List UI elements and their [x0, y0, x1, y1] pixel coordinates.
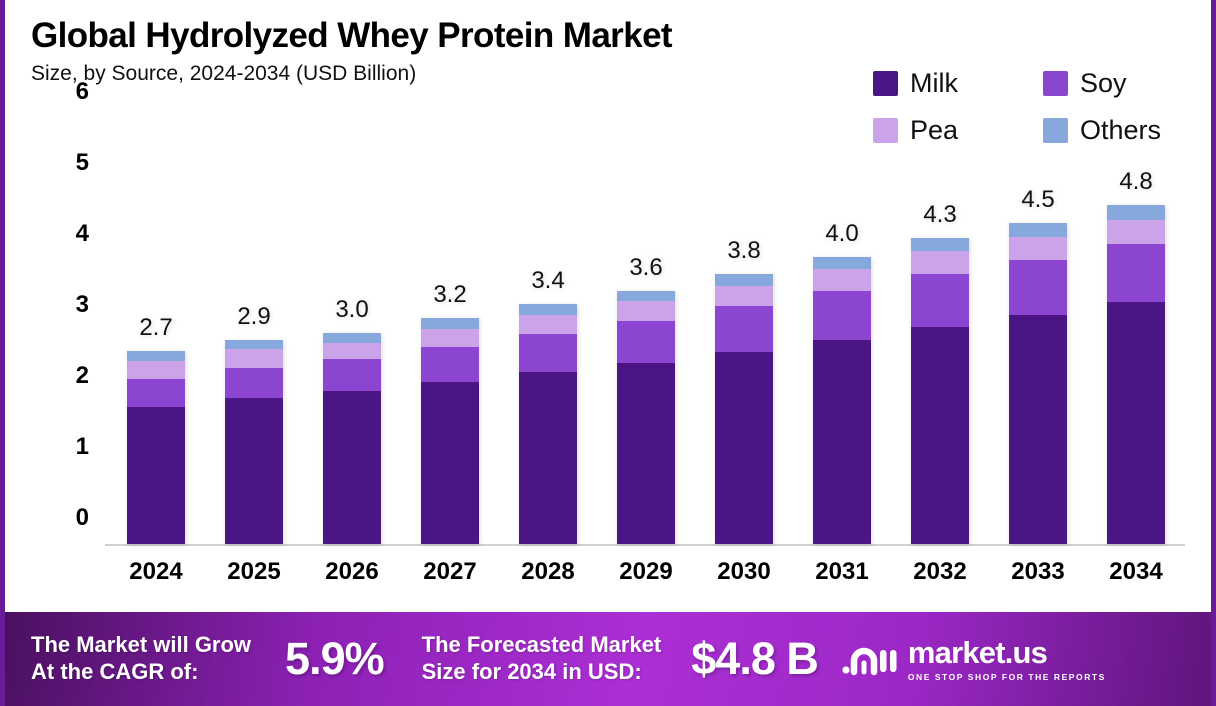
bar-segment-soy[interactable]	[715, 306, 773, 351]
cagr-value: 5.9%	[285, 633, 384, 685]
bar-segment-pea[interactable]	[127, 361, 185, 379]
x-axis-tick-label: 2031	[815, 558, 868, 586]
bar-segment-pea[interactable]	[715, 286, 773, 307]
stacked-bar[interactable]: 3.2	[421, 318, 479, 544]
stacked-bar[interactable]: 3.8	[715, 274, 773, 544]
bar-segment-soy[interactable]	[813, 291, 871, 340]
bar-group-2025[interactable]: 2.92025	[225, 340, 283, 544]
footer-banner: The Market will Grow At the CAGR of: 5.9…	[5, 612, 1216, 706]
stacked-bar[interactable]: 3.0	[323, 333, 381, 544]
forecast-size-value: $4.8 B	[691, 633, 818, 685]
bar-group-2024[interactable]: 2.72024	[127, 351, 185, 544]
bar-value-label: 2.9	[237, 303, 270, 331]
bar-value-label: 4.5	[1021, 186, 1054, 214]
bar-segment-soy[interactable]	[617, 321, 675, 363]
bar-value-label: 3.6	[629, 254, 662, 282]
stacked-bar[interactable]: 4.0	[813, 257, 871, 544]
logo-tagline: ONE STOP SHOP FOR THE REPORTS	[908, 672, 1106, 682]
bar-segment-others[interactable]	[715, 274, 773, 285]
x-axis-tick-label: 2033	[1011, 558, 1064, 586]
bar-segment-milk[interactable]	[911, 327, 969, 544]
bar-segment-soy[interactable]	[421, 347, 479, 383]
bar-group-2026[interactable]: 3.02026	[323, 333, 381, 544]
bar-segment-milk[interactable]	[1009, 315, 1067, 544]
bar-segment-milk[interactable]	[519, 372, 577, 544]
bar-segment-others[interactable]	[127, 351, 185, 361]
bar-segment-others[interactable]	[519, 304, 577, 315]
bar-segment-pea[interactable]	[1009, 237, 1067, 260]
bar-group-2032[interactable]: 4.32032	[911, 238, 969, 544]
y-axis-tick-label: 2	[76, 362, 89, 390]
bar-segment-milk[interactable]	[1107, 302, 1165, 544]
x-axis-tick-label: 2029	[619, 558, 672, 586]
bar-group-2034[interactable]: 4.82034	[1107, 205, 1165, 544]
bar-segment-others[interactable]	[421, 318, 479, 329]
x-axis-tick-label: 2028	[521, 558, 574, 586]
bar-segment-soy[interactable]	[911, 274, 969, 327]
bar-segment-milk[interactable]	[617, 363, 675, 544]
legend-item-label: Milk	[910, 68, 958, 99]
x-axis-tick-label: 2030	[717, 558, 770, 586]
legend-swatch-milk-icon	[873, 71, 898, 96]
bar-group-2027[interactable]: 3.22027	[421, 318, 479, 544]
bar-segment-pea[interactable]	[1107, 220, 1165, 245]
bar-segment-soy[interactable]	[519, 334, 577, 372]
legend-item-soy[interactable]: Soy	[1043, 68, 1193, 99]
y-axis-tick-label: 6	[76, 78, 89, 106]
bar-segment-pea[interactable]	[225, 349, 283, 367]
bar-value-label: 4.3	[923, 201, 956, 229]
bar-segment-milk[interactable]	[421, 382, 479, 544]
bar-segment-milk[interactable]	[225, 398, 283, 544]
page-title: Global Hydrolyzed Whey Protein Market	[31, 16, 672, 56]
bar-group-2031[interactable]: 4.02031	[813, 257, 871, 544]
bar-segment-pea[interactable]	[323, 343, 381, 359]
bar-segment-milk[interactable]	[813, 340, 871, 544]
y-axis-tick-label: 1	[76, 433, 89, 461]
stacked-bar[interactable]: 4.3	[911, 238, 969, 544]
cagr-label: The Market will Grow At the CAGR of:	[31, 632, 251, 686]
chart-subtitle: Size, by Source, 2024-2034 (USD Billion)	[31, 62, 672, 86]
bar-segment-soy[interactable]	[127, 379, 185, 407]
bar-segment-others[interactable]	[911, 238, 969, 251]
bar-segment-soy[interactable]	[1009, 260, 1067, 315]
stacked-bar[interactable]: 3.6	[617, 291, 675, 544]
bar-segment-others[interactable]	[813, 257, 871, 269]
bar-segment-soy[interactable]	[225, 368, 283, 399]
stacked-bar[interactable]: 4.8	[1107, 205, 1165, 544]
bar-segment-pea[interactable]	[911, 251, 969, 274]
x-axis-tick-label: 2025	[227, 558, 280, 586]
bar-segment-pea[interactable]	[421, 329, 479, 347]
market-us-logo-icon	[840, 639, 898, 679]
y-axis-tick-label: 3	[76, 291, 89, 319]
bar-group-2033[interactable]: 4.52033	[1009, 223, 1067, 544]
y-axis-tick-label: 5	[76, 149, 89, 177]
legend-item-milk[interactable]: Milk	[873, 68, 1043, 99]
bar-group-2029[interactable]: 3.62029	[617, 291, 675, 544]
bar-segment-milk[interactable]	[127, 407, 185, 544]
bar-value-label: 3.8	[727, 237, 760, 265]
x-axis-tick-label: 2024	[129, 558, 182, 586]
bar-segment-others[interactable]	[225, 340, 283, 349]
bar-value-label: 3.2	[433, 281, 466, 309]
bar-segment-pea[interactable]	[617, 301, 675, 321]
bar-value-label: 4.0	[825, 220, 858, 248]
bar-segment-milk[interactable]	[715, 352, 773, 544]
x-axis-tick-label: 2032	[913, 558, 966, 586]
bar-segment-soy[interactable]	[323, 359, 381, 391]
bar-segment-others[interactable]	[1009, 223, 1067, 236]
bar-segment-soy[interactable]	[1107, 244, 1165, 302]
bar-group-2030[interactable]: 3.82030	[715, 274, 773, 544]
x-axis-tick-label: 2027	[423, 558, 476, 586]
legend-item-label: Soy	[1080, 68, 1127, 99]
market-us-logo[interactable]: market.us ONE STOP SHOP FOR THE REPORTS	[840, 637, 1106, 682]
y-axis-tick-label: 0	[76, 504, 89, 532]
bar-value-label: 3.0	[335, 296, 368, 324]
forecast-size-label: The Forecasted Market Size for 2034 in U…	[422, 632, 662, 686]
legend-swatch-soy-icon	[1043, 71, 1068, 96]
stacked-bar[interactable]: 4.5	[1009, 223, 1067, 544]
bar-segment-others[interactable]	[617, 291, 675, 302]
bar-value-label: 4.8	[1119, 168, 1152, 196]
x-axis-line	[105, 544, 1185, 546]
infographic-root: Global Hydrolyzed Whey Protein Market Si…	[0, 0, 1216, 706]
bar-value-label: 2.7	[139, 314, 172, 342]
stacked-bar[interactable]: 2.7	[127, 351, 185, 544]
x-axis-tick-label: 2034	[1109, 558, 1162, 586]
bar-segment-milk[interactable]	[323, 391, 381, 544]
logo-wordmark: market.us	[908, 637, 1106, 668]
bar-segment-pea[interactable]	[813, 269, 871, 291]
bar-segment-others[interactable]	[323, 333, 381, 343]
plot-area: 01234562.720242.920253.020263.220273.420…	[105, 120, 1185, 546]
bar-value-label: 3.4	[531, 267, 564, 295]
bar-group-2028[interactable]: 3.42028	[519, 304, 577, 544]
bar-segment-pea[interactable]	[519, 315, 577, 334]
stacked-bar[interactable]: 2.9	[225, 340, 283, 544]
stacked-bar[interactable]: 3.4	[519, 304, 577, 544]
y-axis-tick-label: 4	[76, 220, 89, 248]
bar-segment-others[interactable]	[1107, 205, 1165, 219]
chart-header: Global Hydrolyzed Whey Protein Market Si…	[31, 16, 672, 86]
x-axis-tick-label: 2026	[325, 558, 378, 586]
